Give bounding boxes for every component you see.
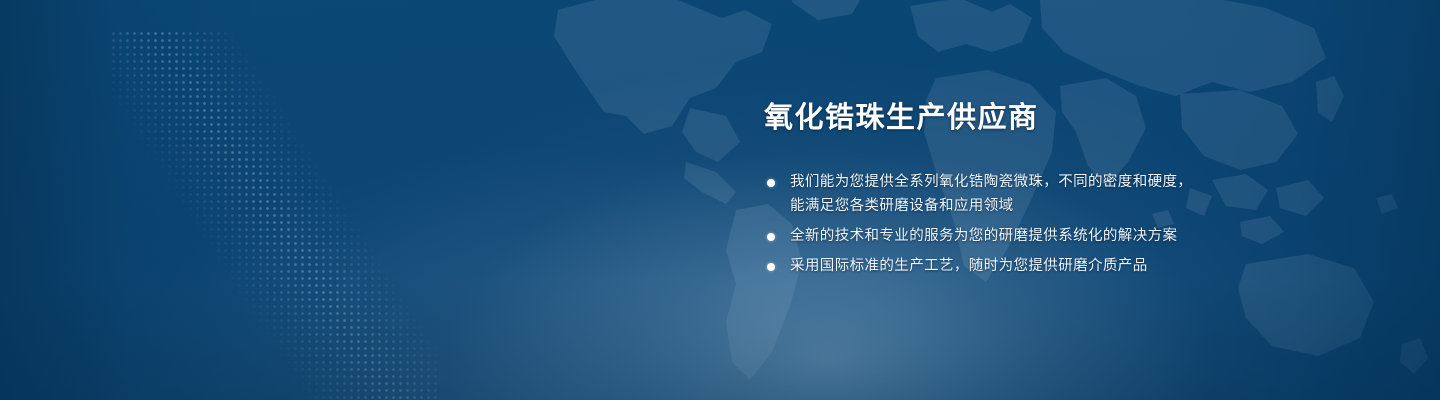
banner-copy: 氧化锆珠生产供应商 我们能为您提供全系列氧化锆陶瓷微珠，不同的密度和硬度， 能满…	[764, 104, 1364, 278]
list-item-line: 采用国际标准的生产工艺，随时为您提供研磨介质产品	[790, 255, 1364, 278]
list-item-line: 我们能为您提供全系列氧化锆陶瓷微珠，不同的密度和硬度，	[790, 171, 1364, 194]
list-item: 我们能为您提供全系列氧化锆陶瓷微珠，不同的密度和硬度， 能满足您各类研磨设备和应…	[764, 171, 1364, 218]
list-item-line: 全新的技术和专业的服务为您的研磨提供系统化的解决方案	[790, 225, 1364, 248]
list-item: 全新的技术和专业的服务为您的研磨提供系统化的解决方案	[764, 225, 1364, 248]
bullet-dot-icon	[767, 179, 775, 187]
bullet-dot-icon	[767, 263, 775, 271]
hero-banner: 氧化锆珠生产供应商 我们能为您提供全系列氧化锆陶瓷微珠，不同的密度和硬度， 能满…	[0, 0, 1440, 400]
bullet-dot-icon	[767, 233, 775, 241]
feature-list: 我们能为您提供全系列氧化锆陶瓷微珠，不同的密度和硬度， 能满足您各类研磨设备和应…	[764, 171, 1364, 278]
page-title: 氧化锆珠生产供应商	[764, 104, 1364, 133]
list-item: 采用国际标准的生产工艺，随时为您提供研磨介质产品	[764, 255, 1364, 278]
list-item-line: 能满足您各类研磨设备和应用领域	[790, 195, 1364, 218]
product-photo-zirconia-beads	[110, 0, 730, 400]
